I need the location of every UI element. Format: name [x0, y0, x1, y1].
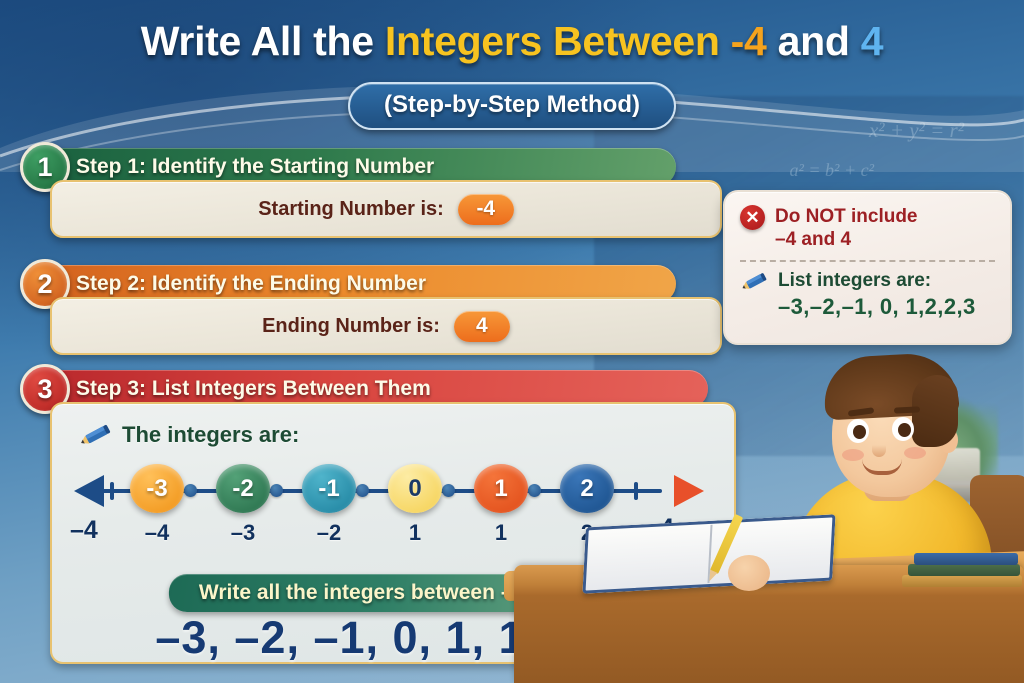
title-segment-5: 4 [861, 18, 884, 64]
note-list-block: List integers are: –3,–2,–1, 0, 1,2,2,3 [778, 270, 976, 320]
starting-number-value: -4 [458, 194, 514, 225]
page-title: Write All the Integers Between -4 and 4 [0, 18, 1024, 65]
note-divider [740, 260, 995, 262]
note-list-label: List integers are: [778, 270, 976, 292]
subtitle-pill: (Step-by-Step Method) [348, 82, 676, 130]
student-cheek-left [842, 449, 864, 461]
student-eye-left [847, 419, 869, 443]
number-line-left-arrow [74, 475, 104, 507]
infographic-canvas: x² + y² = r² a² = b² + c² Σ n = n(n+1)/2… [0, 0, 1024, 683]
book-1 [902, 575, 1022, 587]
number-line-label-5: 1 [495, 520, 507, 546]
note-warning-text: Do NOT include –4 and 4 [775, 205, 918, 251]
number-bubble-4[interactable]: 0 [388, 464, 442, 513]
student-illustration [744, 368, 1024, 683]
step-card-1: 1 Step 1: Identify the Starting Number S… [28, 148, 688, 238]
number-line-label-2: –3 [231, 520, 255, 546]
book-stack [902, 553, 1022, 587]
pencil-icon [740, 272, 768, 292]
number-line-dot-2 [270, 484, 283, 497]
integers-label: The integers are: [122, 422, 299, 448]
student-left-hand [728, 555, 770, 591]
number-line-label-3: –2 [317, 520, 341, 546]
integers-heading: The integers are: [78, 422, 299, 448]
error-x-icon: ✕ [740, 205, 765, 230]
number-line-tick-left [110, 482, 114, 500]
step-2-title: Step 2: Identify the Ending Number [76, 272, 426, 296]
note-warning-line-1: Do NOT include [775, 205, 918, 228]
number-line-dot-5 [528, 484, 541, 497]
number-bubble-1[interactable]: -3 [130, 464, 184, 513]
number-bubble-6[interactable]: 2 [560, 464, 614, 513]
starting-number-label: Starting Number is: [258, 198, 444, 221]
student-cheek-right [904, 447, 926, 459]
step-2-panel: Ending Number is: 4 [50, 297, 722, 355]
title-segment-1: Write All the [141, 18, 385, 64]
step-3-title: Step 3: List Integers Between Them [76, 377, 431, 401]
open-notebook [582, 514, 835, 593]
step-1-title: Step 1: Identify the Starting Number [76, 155, 434, 179]
step-card-2: 2 Step 2: Identify the Ending Number End… [28, 265, 688, 355]
number-line-left-edge-label: –4 [70, 516, 98, 545]
title-segment-3: -4 [731, 18, 767, 64]
note-warning-line-2: –4 and 4 [775, 228, 918, 251]
number-line-dot-3 [356, 484, 369, 497]
number-line-dot-4 [442, 484, 455, 497]
pencil-icon [78, 424, 112, 446]
number-bubble-2[interactable]: -2 [216, 464, 270, 513]
ending-number-value: 4 [454, 311, 510, 342]
ending-number-label: Ending Number is: [262, 315, 440, 338]
number-line-label-1: –4 [145, 520, 169, 546]
book-3 [914, 553, 1018, 565]
title-segment-2: Integers Between [385, 18, 731, 64]
note-list-value: –3,–2,–1, 0, 1,2,2,3 [778, 294, 976, 320]
student-eye-right [892, 417, 914, 441]
number-line-right-arrow [674, 475, 704, 507]
note-list-row: List integers are: –3,–2,–1, 0, 1,2,2,3 [740, 270, 995, 320]
step-1-panel: Starting Number is: -4 [50, 180, 722, 238]
number-bubble-3[interactable]: -1 [302, 464, 356, 513]
number-bubble-5[interactable]: 1 [474, 464, 528, 513]
number-line-tick-right [634, 482, 638, 500]
number-line-label-4: 1 [409, 520, 421, 546]
number-line-dot-1 [184, 484, 197, 497]
note-warning-row: ✕ Do NOT include –4 and 4 [740, 205, 995, 251]
title-segment-4: and [767, 18, 861, 64]
note-card: ✕ Do NOT include –4 and 4 List integers … [723, 190, 1012, 345]
book-2 [908, 564, 1020, 576]
